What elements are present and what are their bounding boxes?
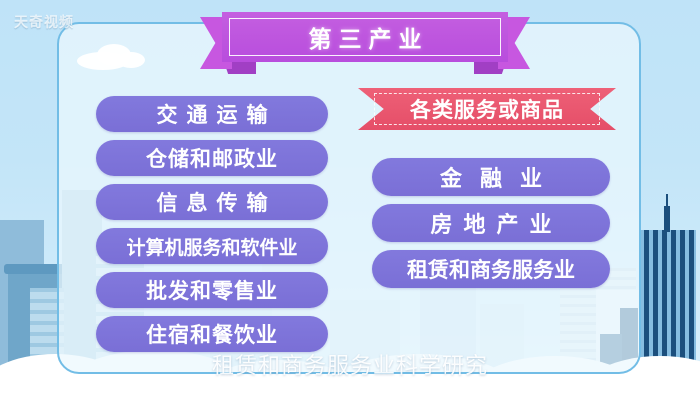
building-right-spire <box>664 206 670 232</box>
list-item-accommodation-catering[interactable]: 住宿和餐饮业 <box>96 316 328 352</box>
services-banner: 各类服务或商品 <box>358 88 616 130</box>
list-item-wholesale-retail[interactable]: 批发和零售业 <box>96 272 328 308</box>
list-item-finance[interactable]: 金融业 <box>372 158 610 196</box>
pill-label: 租赁和商务服务业 <box>407 254 575 284</box>
pill-label: 交通运输 <box>148 99 277 129</box>
list-item-information-transmission[interactable]: 信息传输 <box>96 184 328 220</box>
list-item-leasing-business-services[interactable]: 租赁和商务服务业 <box>372 250 610 288</box>
subtitle-caption: 租赁和商务服务业科学研究 <box>0 348 700 380</box>
services-banner-text: 各类服务或商品 <box>358 88 616 130</box>
pill-label: 批发和零售业 <box>146 275 278 305</box>
pill-label: 仓储和邮政业 <box>146 143 278 173</box>
main-title-text: 第三产业 <box>222 12 508 62</box>
cloud-puff <box>0 388 700 400</box>
pill-label: 金融业 <box>422 161 560 193</box>
pill-label: 住宿和餐饮业 <box>146 319 278 349</box>
list-item-computer-software[interactable]: 计算机服务和软件业 <box>96 228 328 264</box>
list-item-transport[interactable]: 交通运输 <box>96 96 328 132</box>
pill-label: 信息传输 <box>148 187 277 217</box>
pill-label: 计算机服务和软件业 <box>126 233 297 260</box>
list-item-storage-postal[interactable]: 仓储和邮政业 <box>96 140 328 176</box>
decorative-cloud <box>117 52 145 68</box>
infographic-slide: 天奇视频 第三产业 各类服务或商品 交通运输 仓储和邮政业 信息传输 计算机服务… <box>0 0 700 400</box>
building-right-antenna <box>666 194 668 208</box>
main-title-ribbon: 第三产业 <box>200 12 530 64</box>
pill-label: 房地产业 <box>419 207 562 239</box>
watermark-logo: 天奇视频 <box>14 12 74 32</box>
list-item-real-estate[interactable]: 房地产业 <box>372 204 610 242</box>
